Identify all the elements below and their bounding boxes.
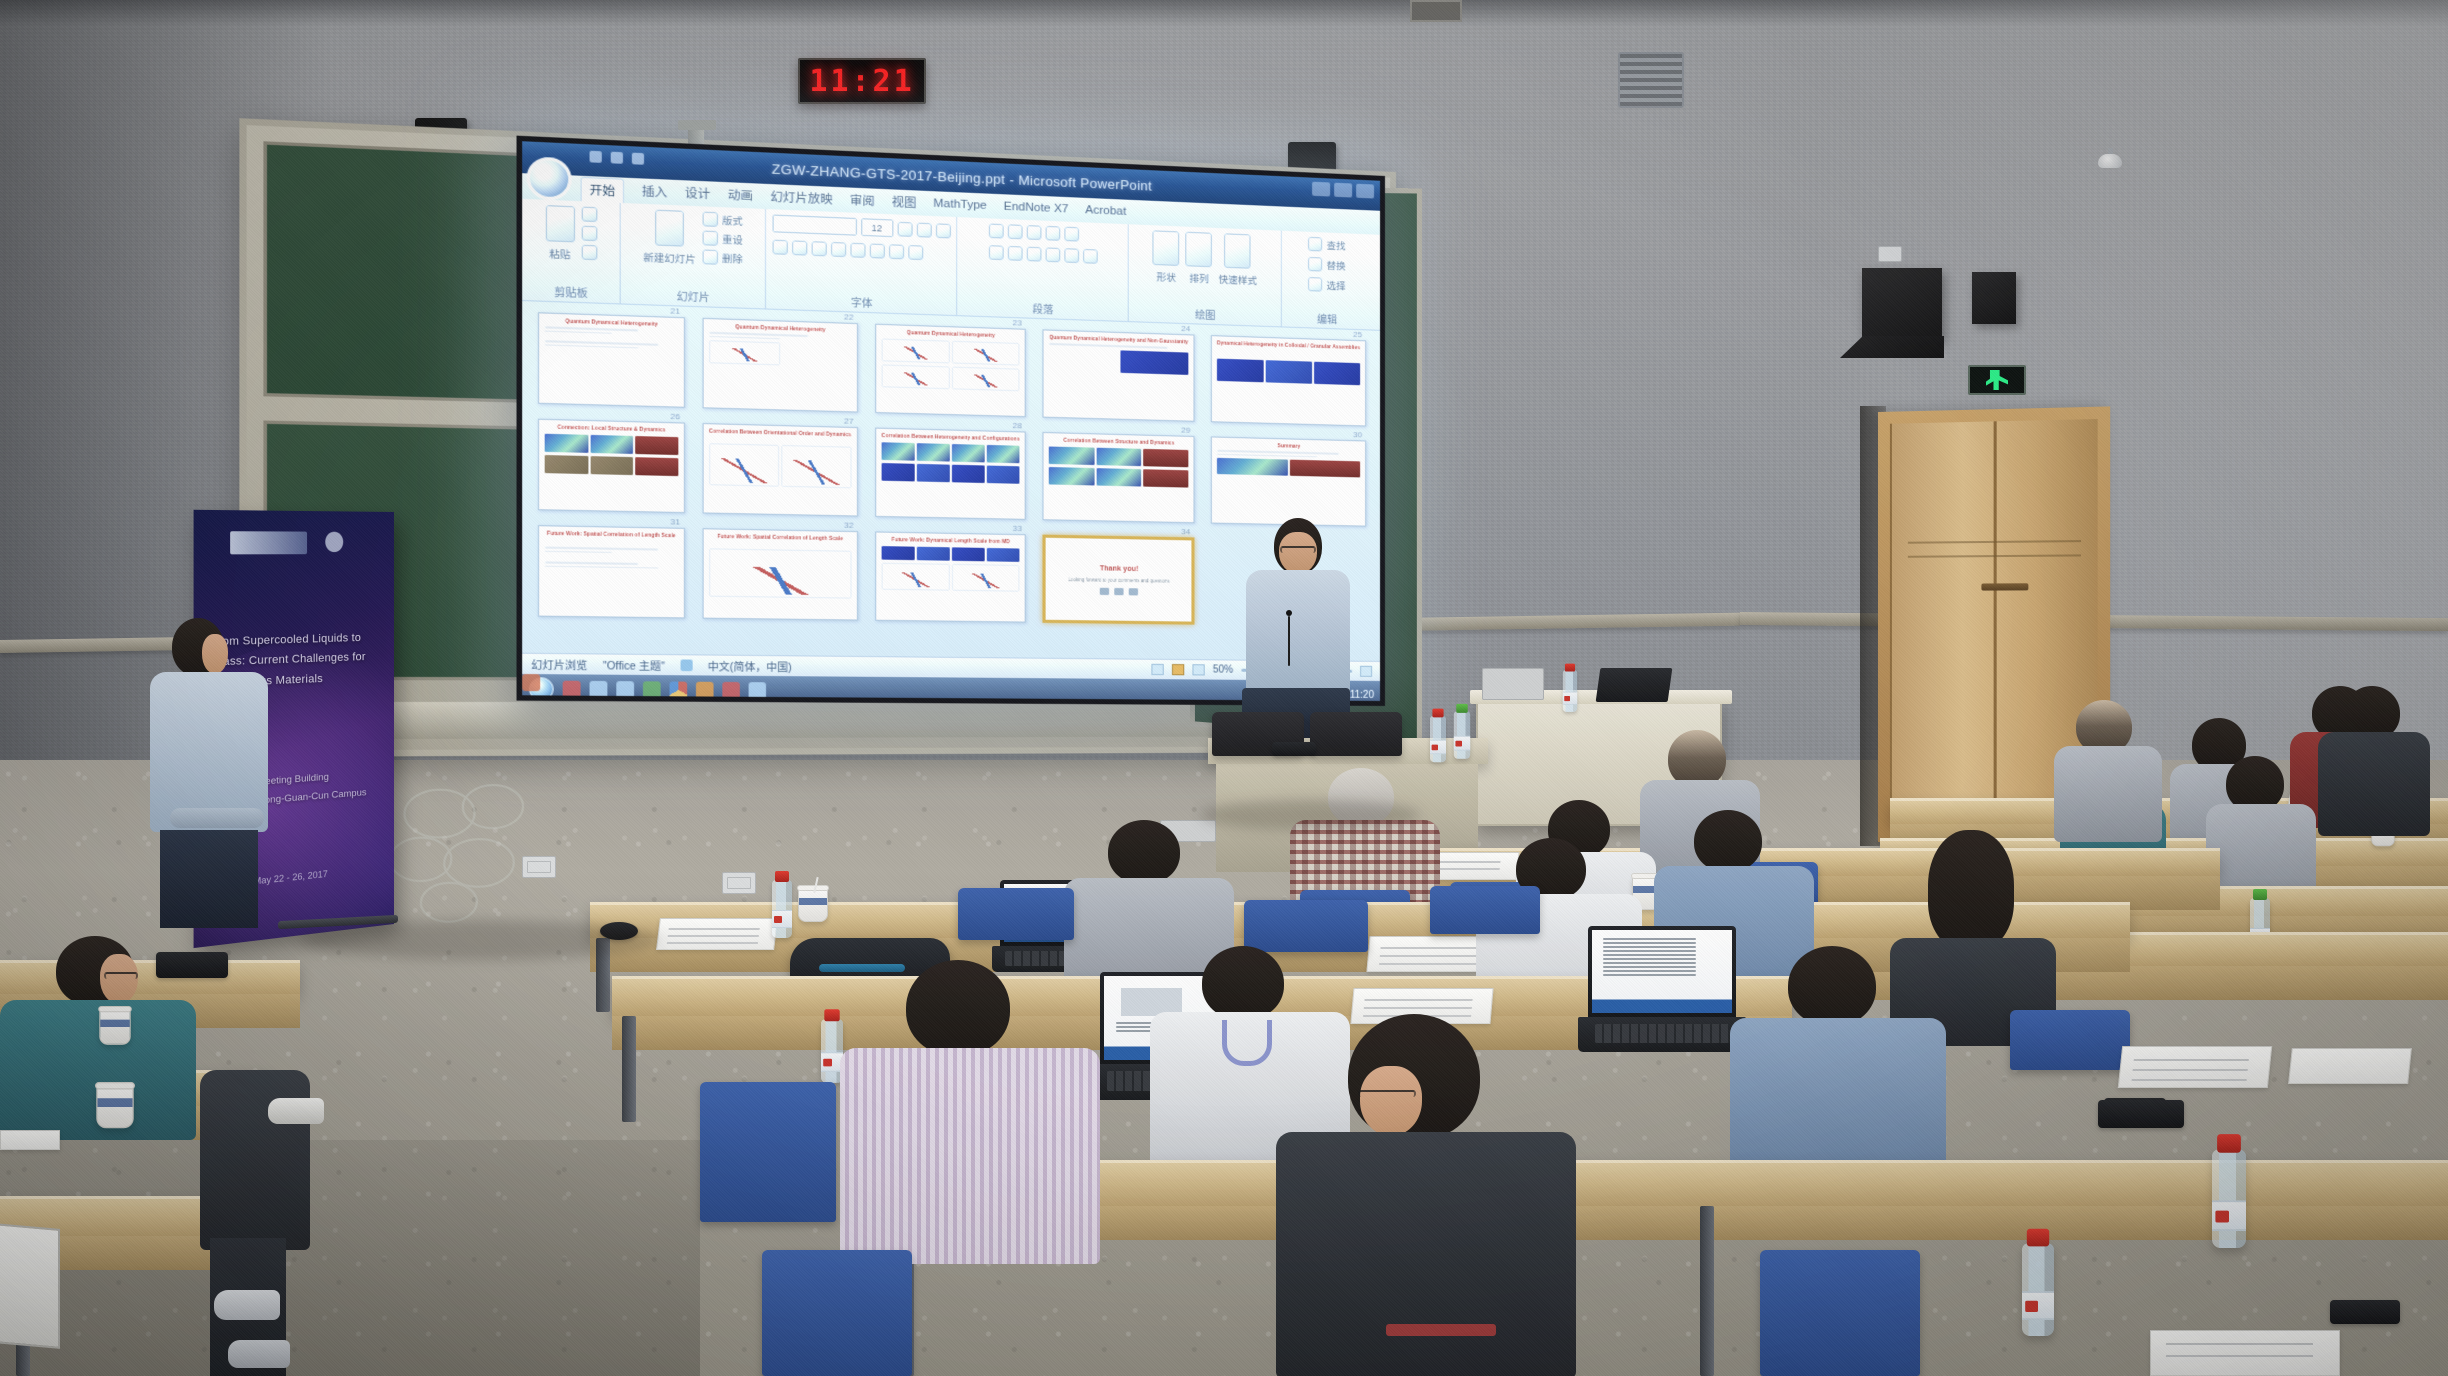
screen-text-lines [1603, 938, 1695, 976]
arrange-label: 排列 [1189, 270, 1208, 285]
paper-handout[interactable] [0, 1130, 60, 1150]
maximize-icon[interactable] [1334, 183, 1352, 198]
select-label: 选择 [1327, 278, 1346, 293]
slide-thumbnail-selected[interactable]: Thank you! Looking forward to your comme… [1043, 535, 1194, 625]
security-camera-icon [2094, 148, 2128, 170]
wall-panel[interactable] [1482, 668, 1544, 700]
audience-front-center-nearest [1276, 1014, 1576, 1376]
slide-title: Dynamical Heterogeneity in Colloidal / G… [1217, 340, 1360, 351]
cup-band [100, 1020, 129, 1027]
paper-cup[interactable] [798, 888, 828, 922]
slide-thumbnail-cell[interactable]: 29 Correlation Between Structure and Dyn… [1043, 432, 1194, 523]
slide-number: 22 [844, 312, 854, 322]
align-left-icon[interactable] [988, 245, 1003, 260]
glasses [1358, 1090, 1416, 1097]
presenter-face [1279, 532, 1317, 574]
remote-control[interactable] [1272, 742, 1316, 756]
undo-icon[interactable] [611, 152, 623, 164]
paper-handout[interactable] [2150, 1330, 2340, 1376]
clock-time: 11:21 [809, 64, 914, 99]
find-label: 查找 [1327, 238, 1346, 253]
cut-icon[interactable] [581, 207, 597, 222]
tab-acrobat[interactable]: Acrobat [1085, 204, 1126, 218]
floor-shadow-banner [300, 920, 660, 960]
font-color-icon[interactable] [908, 245, 923, 260]
quick-access-toolbar[interactable] [590, 151, 645, 165]
audience-right-glasses [2206, 756, 2316, 906]
face [100, 954, 138, 1004]
lanyard [1222, 1020, 1272, 1066]
slide-title: Connection: Local Structure & Dynamics [545, 424, 678, 434]
slide-thumbnail[interactable]: Quantum Dynamical Heterogeneity [702, 318, 858, 413]
close-icon[interactable] [1356, 184, 1374, 199]
slide-number: 23 [1013, 318, 1022, 328]
laptop-thinkpad[interactable] [1588, 926, 1736, 1052]
torso [1276, 1132, 1576, 1376]
floor-shadow-presenter [1200, 800, 1420, 830]
sneaker-right [214, 1290, 280, 1320]
quick-styles-label: 快速样式 [1218, 272, 1257, 288]
water-bottle[interactable] [1454, 711, 1470, 759]
taskbar-icon-pdf[interactable] [722, 682, 740, 699]
taskbar-icon-app[interactable] [643, 681, 661, 698]
group-label-paragraph: 段落 [957, 298, 1127, 319]
slide-number: 24 [1181, 324, 1190, 333]
thank-you-slide: Thank you! Looking forward to your comme… [1051, 542, 1186, 618]
exit-sign-icon [1968, 365, 2026, 395]
wall-speaker-small [1972, 272, 2016, 324]
torso [2318, 732, 2430, 836]
taskbar-icon-chrome[interactable] [670, 682, 688, 699]
shrink-font-icon[interactable] [916, 222, 931, 237]
taskbar-icon-powerpoint-active[interactable] [522, 674, 540, 691]
paragraph-controls[interactable] [988, 223, 1097, 301]
copy-icon[interactable] [581, 226, 597, 241]
slide-number: 34 [1181, 527, 1190, 536]
bottle-label [2022, 1291, 2054, 1320]
font-family-select[interactable] [772, 214, 856, 235]
slide-number: 25 [1353, 330, 1362, 339]
audience-right-standing [2318, 686, 2430, 836]
running-man-glyph [1986, 370, 2008, 390]
lecture-hall-photo: 11:21 [0, 0, 2448, 1376]
ribbon-group-slides: 新建幻灯片 版式 重设 删除 幻灯片 [621, 203, 766, 309]
cup-band [799, 898, 827, 905]
slide-number: 31 [670, 517, 680, 527]
numbering-icon[interactable] [1007, 224, 1022, 239]
air-vent-icon [1618, 52, 1684, 108]
front-chair-right[interactable] [1310, 712, 1402, 756]
justify-icon[interactable] [1045, 247, 1060, 262]
align-right-icon[interactable] [1026, 247, 1041, 262]
view-sorter-icon[interactable] [1172, 664, 1184, 675]
head [1108, 820, 1180, 884]
taskbar-icon-explorer[interactable] [590, 681, 608, 698]
delete-slide-icon[interactable] [702, 249, 717, 264]
slide-thumbnail-cell[interactable]: 25 Dynamical Heterogeneity in Colloidal … [1211, 335, 1366, 426]
slide-thumbnail-cell[interactable]: 32 Future Work: Spatial Correlation of L… [702, 528, 858, 620]
delete-label: 删除 [722, 250, 743, 265]
laptop-lid [1588, 926, 1736, 1017]
slide-thumbnail[interactable]: Future Work: Spatial Correlation of Leng… [702, 528, 858, 620]
slide-number: 28 [1013, 421, 1022, 431]
chair-mid-3[interactable] [1430, 886, 1540, 934]
wall-outlet[interactable] [522, 856, 556, 878]
group-label-slides: 幻灯片 [621, 285, 765, 306]
logo-icon-1 [1100, 587, 1109, 594]
bottle-label [772, 910, 792, 928]
shapes-gallery-icon[interactable] [1153, 230, 1180, 266]
bottle-cap [2217, 1134, 2241, 1153]
laptop-screen-document[interactable] [1592, 930, 1732, 1013]
slide-thumbnail-cell[interactable]: 21 Quantum Dynamical Heterogeneity [538, 312, 685, 408]
slide-thumbnail[interactable]: Correlation Between Orientational Order … [702, 423, 858, 517]
character-spacing-icon[interactable] [869, 243, 884, 258]
tablet-device[interactable] [0, 1223, 60, 1349]
sponsor-logos [1100, 587, 1138, 595]
cup-band [98, 1098, 133, 1107]
new-slide-icon[interactable] [655, 210, 684, 247]
slide-thumbnail-cell[interactable]: 23 Quantum Dynamical Heterogeneity [875, 324, 1026, 417]
slide-number: 29 [1181, 425, 1190, 434]
laptop-base [1578, 1017, 1747, 1052]
font-size-select[interactable]: 12 [861, 218, 893, 237]
bottle-label [1563, 692, 1577, 705]
ribbon-group-editing: 查找 替换 选择 编辑 [1282, 231, 1372, 330]
audience-right-older [2054, 700, 2162, 840]
door-center-split [1994, 421, 1997, 845]
logo-icon-3 [1129, 588, 1138, 595]
arrange-icon[interactable] [1186, 232, 1213, 268]
paper-cup[interactable] [96, 1086, 134, 1129]
view-slideshow-icon[interactable] [1192, 664, 1204, 675]
slide-title: Correlation Between Orientational Order … [709, 428, 852, 438]
bottle-cap [824, 1009, 839, 1021]
slide-thumbnail[interactable]: Future Work: Dynamical Length Scale from… [875, 531, 1026, 622]
head-long-hair [1928, 830, 2014, 950]
slide-thumbnail-cell[interactable]: 30 Summary [1211, 436, 1366, 526]
bottle-cap [2253, 889, 2267, 900]
slide-thumbnail[interactable]: Quantum Dynamical Heterogeneity [538, 312, 685, 408]
bottle-cap [1432, 709, 1443, 718]
ribbon-group-clipboard: 粘贴 剪贴板 [522, 199, 621, 304]
phone-case[interactable] [156, 952, 228, 978]
chair-front-right[interactable] [1760, 1250, 1920, 1376]
torso [2054, 746, 2162, 842]
fit-to-window-icon[interactable] [1360, 666, 1372, 677]
editing-controls[interactable]: 查找 替换 选择 [1309, 237, 1346, 311]
line-spacing-icon[interactable] [1064, 227, 1079, 242]
ribbon-group-font: 12 [766, 209, 957, 315]
paste-icon[interactable] [545, 205, 574, 242]
desk-leg [622, 1016, 636, 1122]
text-direction-icon[interactable] [1083, 249, 1098, 264]
slide-number: 32 [844, 520, 854, 530]
presenter-laptop[interactable] [1596, 668, 1673, 702]
slide-number: 30 [1353, 430, 1362, 439]
water-bottle-front-center[interactable] [2022, 1243, 2054, 1336]
layout-icon[interactable] [702, 212, 717, 227]
slide-number: 27 [844, 416, 854, 426]
tab-home[interactable]: 开始 [581, 176, 624, 202]
head [906, 960, 1010, 1056]
chair-mid-4[interactable] [2010, 1010, 2130, 1070]
reset-label: 重设 [722, 231, 743, 247]
slide-number: 21 [670, 306, 680, 316]
taskbar-icon-window[interactable] [749, 682, 766, 699]
audience-front-checked [840, 960, 1100, 1260]
chair-mid-1[interactable] [958, 888, 1074, 940]
group-label-drawing: 绘图 [1129, 304, 1281, 325]
columns-icon[interactable] [1064, 248, 1079, 263]
slide-number: 33 [1013, 524, 1022, 533]
head [1788, 946, 1876, 1026]
wall-speaker-large [1862, 268, 1942, 340]
presenter-glasses [1280, 546, 1316, 553]
group-label-clipboard: 剪贴板 [522, 282, 619, 301]
digital-wall-clock: 11:21 [798, 58, 926, 104]
tab-slideshow[interactable]: 幻灯片放映 [770, 188, 832, 207]
taskbar-icon-document[interactable] [616, 681, 634, 698]
status-language[interactable]: 中文(简体，中国) [708, 658, 792, 674]
attendee-trousers [160, 830, 258, 928]
torso [840, 1048, 1100, 1264]
slide-thumbnail[interactable]: Correlation Between Structure and Dynami… [1043, 432, 1194, 523]
wall-switch-plate[interactable] [1878, 246, 1902, 262]
head [1694, 810, 1762, 872]
paper-cup[interactable] [99, 1009, 131, 1045]
chalk-drawing [372, 774, 603, 939]
door-handle[interactable] [1981, 583, 2028, 590]
paper-handout[interactable] [2118, 1046, 2272, 1088]
slide-title: Correlation Between Heterogeneity and Co… [881, 433, 1019, 443]
quick-styles-icon[interactable] [1225, 233, 1251, 268]
slide-thumbnail[interactable]: Correlation Between Heterogeneity and Co… [875, 428, 1026, 520]
drawing-controls[interactable]: 形状 排列 快速样式 [1153, 230, 1257, 307]
phone-case[interactable] [2330, 1300, 2400, 1324]
tab-mathtype[interactable]: MathType [933, 197, 986, 212]
bullets-icon[interactable] [988, 223, 1003, 238]
thank-you-subtext: Looking forward to your comments and que… [1068, 577, 1170, 584]
glasses-case[interactable] [2098, 1100, 2184, 1128]
increase-indent-icon[interactable] [1045, 226, 1060, 241]
slide-title: Future Work: Spatial Correlation of Leng… [545, 531, 678, 540]
shapes-label: 形状 [1157, 269, 1177, 284]
face-partial [1360, 1066, 1422, 1136]
taskbar-icon-firefox[interactable] [696, 682, 714, 699]
slide-thumbnail[interactable]: Quantum Dynamical Heterogeneity and Non-… [1043, 329, 1194, 421]
bottle-label [2212, 1200, 2246, 1231]
taskbar-icon-media[interactable] [563, 681, 581, 698]
slide-thumbnail-cell[interactable]: 27 Correlation Between Orientational Ord… [702, 423, 858, 517]
reset-icon[interactable] [702, 231, 717, 246]
grow-font-icon[interactable] [897, 221, 912, 236]
camera-dome [2098, 154, 2122, 168]
status-view-mode: 幻灯片浏览 [531, 656, 587, 672]
window-controls[interactable] [1312, 182, 1374, 199]
replace-label: 替换 [1327, 258, 1346, 273]
slides-controls[interactable]: 新建幻灯片 版式 重设 删除 [643, 209, 743, 289]
slide-thumbnail-cell[interactable]: 24 Quantum Dynamical Heterogeneity and N… [1043, 329, 1194, 421]
bold-icon[interactable] [772, 240, 787, 255]
paper-handout[interactable] [2288, 1048, 2412, 1084]
replace-icon[interactable] [1309, 257, 1323, 272]
ribbon-group-drawing: 形状 排列 快速样式 绘图 [1129, 224, 1282, 326]
slide-thumbnail[interactable]: Future Work: Spatial Correlation of Leng… [538, 525, 685, 618]
laptop-keyboard[interactable] [1595, 1024, 1730, 1043]
bottle-label [1454, 736, 1470, 751]
paste-label: 粘贴 [549, 246, 570, 262]
clipboard-controls[interactable]: 粘贴 [545, 205, 597, 283]
tab-animation[interactable]: 动画 [728, 186, 753, 204]
attendee-face [202, 634, 228, 674]
status-zoom-level: 50% [1213, 664, 1233, 675]
clear-formatting-icon[interactable] [935, 223, 950, 238]
slide-thumbnail-cell[interactable]: 26 Connection: Local Structure & Dynamic… [538, 419, 685, 513]
decrease-indent-icon[interactable] [1026, 225, 1041, 240]
logo-icon-2 [1114, 587, 1123, 594]
slide-thumbnail[interactable]: Summary [1211, 436, 1366, 526]
select-icon[interactable] [1309, 277, 1323, 292]
align-center-icon[interactable] [1007, 246, 1022, 261]
tab-endnote[interactable]: EndNote X7 [1004, 200, 1069, 215]
paper-handout[interactable] [656, 918, 778, 950]
slide-title: Future Work: Dynamical Length Scale from… [881, 537, 1019, 546]
font-controls[interactable]: 12 [772, 214, 950, 296]
status-theme: "Office 主题" [603, 657, 665, 673]
sneaker-right-2 [228, 1340, 290, 1368]
standing-attendee-left [150, 618, 290, 928]
spell-check-icon[interactable] [680, 659, 692, 671]
slide-thumbnail-cell[interactable]: 28 Correlation Between Heterogeneity and… [875, 428, 1026, 520]
sneaker-left [268, 1098, 324, 1124]
torso [1730, 1018, 1946, 1180]
torso [200, 1070, 310, 1250]
slide-thumbnail[interactable]: Quantum Dynamical Heterogeneity [875, 324, 1026, 417]
thank-you-text: Thank you! [1100, 565, 1139, 573]
find-icon[interactable] [1309, 237, 1323, 252]
water-bottle[interactable] [1430, 716, 1446, 762]
banner-secondary-logo-icon [325, 532, 343, 552]
format-painter-icon[interactable] [581, 245, 597, 260]
slide-thumbnail-cell[interactable]: 31 Future Work: Spatial Correlation of L… [538, 525, 685, 618]
wall-outlet[interactable] [722, 872, 756, 894]
ribbon-group-paragraph: 段落 [957, 217, 1129, 321]
banner-logo-icon [230, 531, 307, 554]
slide-title: Future Work: Spatial Correlation of Leng… [709, 534, 852, 543]
cup-lid [98, 1006, 132, 1012]
slide-thumbnail-cell-selected[interactable]: 34 Thank you! Looking forward to your co… [1043, 535, 1194, 625]
collar-detail [1386, 1324, 1496, 1336]
bottle-cap [2027, 1229, 2049, 1247]
new-slide-label: 新建幻灯片 [643, 249, 695, 266]
bottle-cap [1565, 664, 1575, 672]
bottle-cap [1456, 704, 1467, 713]
strikethrough-icon[interactable] [831, 242, 846, 257]
slide-thumbnail-cell[interactable]: 33 Future Work: Dynamical Length Scale f… [875, 531, 1026, 622]
presenter-torso [1246, 570, 1350, 696]
slide-thumbnail[interactable]: Connection: Local Structure & Dynamics [538, 419, 685, 513]
group-label-editing: 编辑 [1282, 309, 1372, 327]
view-normal-icon[interactable] [1151, 664, 1163, 675]
cup-lid [95, 1082, 135, 1090]
slide-thumbnail[interactable]: Dynamical Heterogeneity in Colloidal / G… [1211, 335, 1366, 426]
glasses [104, 972, 138, 979]
chair-mid-2[interactable] [1244, 900, 1368, 952]
audience-blue-shirt-front [1730, 946, 1946, 1176]
chair-front-left[interactable] [700, 1082, 836, 1222]
slide-number: 26 [670, 412, 680, 422]
slide-title: Correlation Between Structure and Dynami… [1049, 437, 1188, 447]
bottle-label [1430, 740, 1446, 754]
slide-thumbnail-cell[interactable]: 22 Quantum Dynamical Heterogeneity [702, 318, 858, 413]
minimize-icon[interactable] [1312, 182, 1330, 197]
underline-icon[interactable] [811, 241, 826, 256]
wall-picture-frame [1410, 0, 1462, 22]
bottle-cap [775, 871, 789, 882]
chair-front-left-2[interactable] [762, 1250, 912, 1376]
tab-insert[interactable]: 插入 [642, 183, 667, 201]
italic-icon[interactable] [792, 240, 807, 255]
tab-view[interactable]: 视图 [892, 194, 917, 212]
water-bottle[interactable] [772, 880, 792, 938]
tab-review[interactable]: 审阅 [850, 192, 875, 210]
water-bottle-front-right[interactable] [2212, 1149, 2246, 1248]
change-case-icon[interactable] [889, 244, 904, 259]
save-icon[interactable] [590, 151, 602, 163]
head [1202, 946, 1284, 1020]
microphone-cord [1288, 616, 1290, 666]
desk-leg [1700, 1206, 1714, 1376]
attendee-crossed-arms [170, 808, 264, 828]
water-bottle[interactable] [1563, 670, 1577, 712]
tab-design[interactable]: 设计 [685, 185, 710, 203]
redo-icon[interactable] [632, 153, 644, 165]
shadow-icon[interactable] [850, 243, 865, 258]
layout-label: 版式 [722, 212, 743, 228]
